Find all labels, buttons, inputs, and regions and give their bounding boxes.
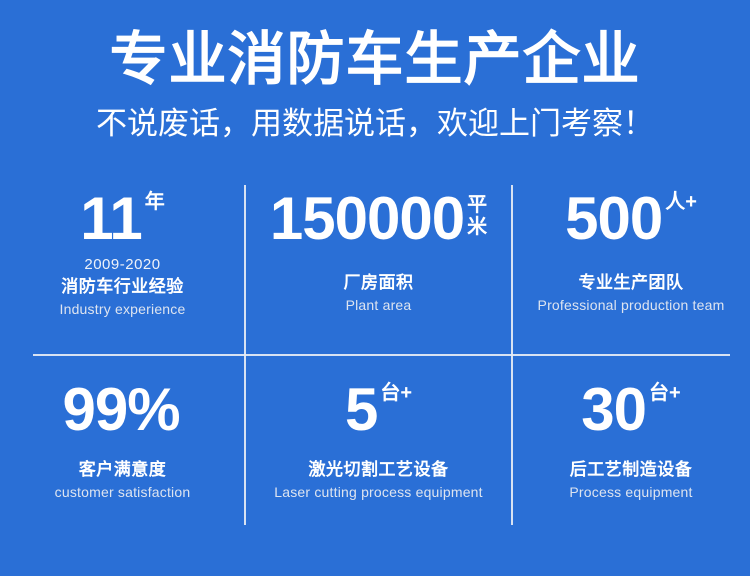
stat-unit: 年 xyxy=(145,192,165,213)
stat-value: 500 xyxy=(565,188,662,250)
stat-unit: 台+ xyxy=(380,383,412,404)
stat-figure: 5 台+ xyxy=(345,379,412,441)
stat-unit: 人+ xyxy=(665,192,697,213)
stat-value: 150000 xyxy=(270,188,464,250)
page-subtitle: 不说废话，用数据说话，欢迎上门考察！ xyxy=(0,104,750,144)
stat-label-en: Industry experience xyxy=(60,300,186,318)
stat-label-cn: 消防车行业经验 xyxy=(61,276,184,298)
stat-cell-plant-area: 150000 平 米 厂房面积 Plant area xyxy=(245,170,512,355)
stat-unit: 平 米 xyxy=(467,194,487,238)
stat-cell-process-equipment: 30 台+ 后工艺制造设备 Process equipment xyxy=(512,355,750,546)
stat-value: 30 xyxy=(581,379,646,441)
stat-figure: 99% xyxy=(62,379,182,441)
promo-banner: 专业消防车生产企业 不说废话，用数据说话，欢迎上门考察！ 11 年 2009-2… xyxy=(0,0,750,576)
stat-label-en: Professional production team xyxy=(538,296,725,314)
stat-figure: 150000 平 米 xyxy=(270,188,487,250)
stat-figure: 11 年 xyxy=(80,188,164,250)
stat-value: 11 xyxy=(80,188,141,250)
stat-year-range: 2009-2020 xyxy=(84,256,160,274)
stat-cell-customer-satisfaction: 99% 客户满意度 customer satisfaction xyxy=(0,355,245,546)
stat-label-en: Laser cutting process equipment xyxy=(274,483,483,501)
stat-label-en: Process equipment xyxy=(569,483,692,501)
stat-label-cn: 激光切割工艺设备 xyxy=(309,459,449,481)
stat-label-en: customer satisfaction xyxy=(55,483,191,501)
page-title: 专业消防车生产企业 xyxy=(0,26,750,94)
stats-grid: 11 年 2009-2020 消防车行业经验 Industry experien… xyxy=(0,170,750,546)
stat-label-cn: 后工艺制造设备 xyxy=(570,459,693,481)
stat-label-en: Plant area xyxy=(346,296,412,314)
stat-label-cn: 专业生产团队 xyxy=(579,272,684,294)
stat-label-cn: 厂房面积 xyxy=(344,272,414,294)
stat-cell-production-team: 500 人+ 专业生产团队 Professional production te… xyxy=(512,170,750,355)
stat-label-cn: 客户满意度 xyxy=(79,459,167,481)
stat-unit-char-1: 平 xyxy=(467,194,487,216)
stat-figure: 500 人+ xyxy=(565,188,697,250)
stat-value: 99% xyxy=(62,379,179,441)
stat-value: 5 xyxy=(345,379,377,441)
stat-cell-industry-experience: 11 年 2009-2020 消防车行业经验 Industry experien… xyxy=(0,170,245,355)
stat-figure: 30 台+ xyxy=(581,379,680,441)
stat-unit: 台+ xyxy=(649,383,681,404)
stat-cell-laser-cutting-equipment: 5 台+ 激光切割工艺设备 Laser cutting process equi… xyxy=(245,355,512,546)
stat-unit-char-2: 米 xyxy=(467,216,487,238)
banner-header: 专业消防车生产企业 不说废话，用数据说话，欢迎上门考察！ xyxy=(0,0,750,170)
